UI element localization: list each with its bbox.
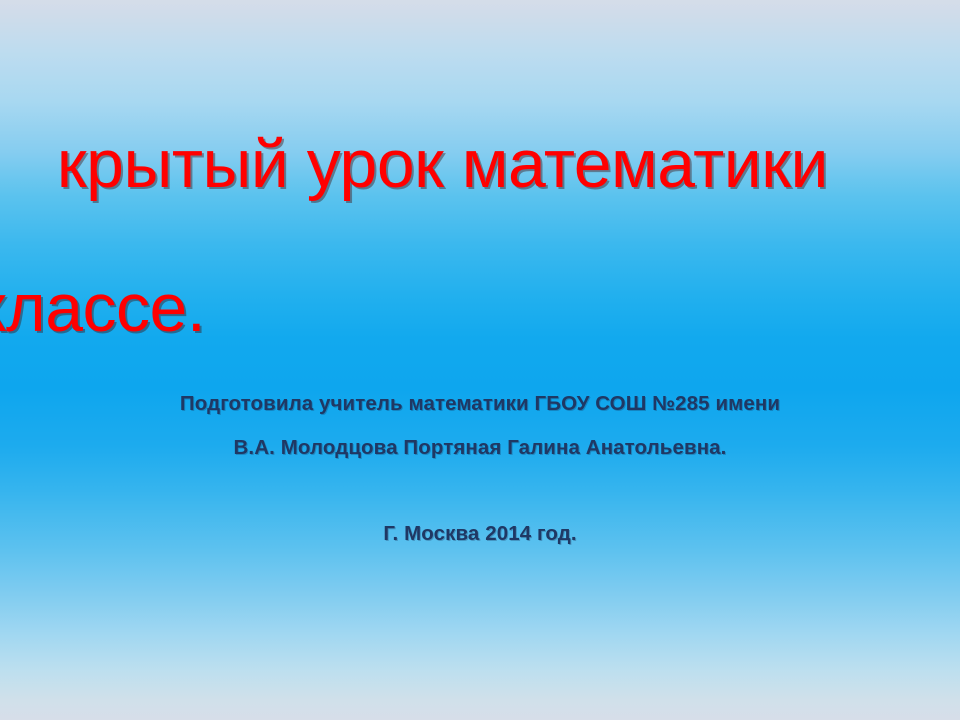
author-credit-line: Подготовила учитель математики ГБОУ СОШ … (0, 382, 960, 426)
slide-title-block: крытый урок математики классе. (0, 104, 960, 354)
author-block-spacer (0, 470, 960, 512)
slide-author-block: Подготовила учитель математики ГБОУ СОШ … (0, 382, 960, 556)
presentation-slide: крытый урок математики классе. Подготови… (0, 0, 960, 720)
author-name-line: В.А. Молодцова Портяная Галина Анатольев… (0, 426, 960, 470)
slide-title-line-1: крытый урок математики (0, 130, 960, 198)
author-place-date-line: Г. Москва 2014 год. (0, 512, 960, 556)
slide-title-line-2: классе. (0, 274, 960, 342)
